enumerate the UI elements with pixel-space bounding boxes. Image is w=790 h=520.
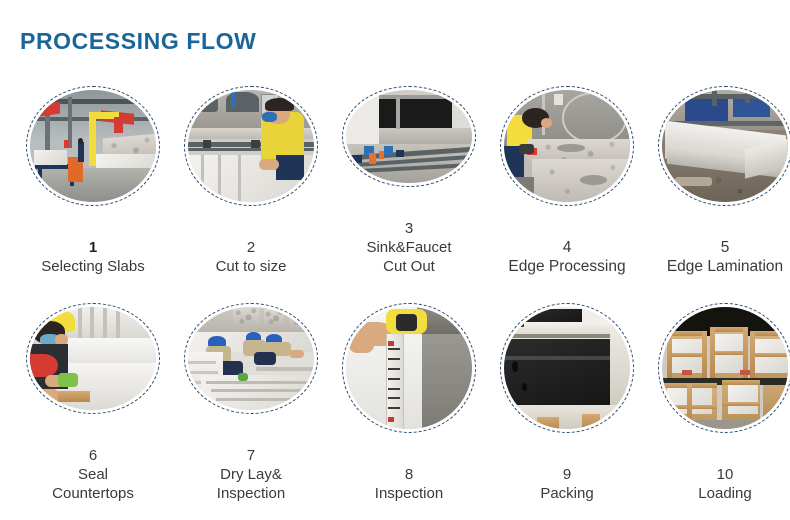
page-title: PROCESSING FLOW — [20, 28, 256, 55]
caption-step-9: 9 Packing — [540, 446, 593, 503]
step-label-3: Sink&Faucet Cut Out — [366, 239, 451, 275]
photo-packing — [500, 303, 634, 433]
flow-step-8[interactable]: 8 Inspection — [330, 303, 488, 503]
photo-cut-to-size — [184, 86, 318, 206]
step-number-1: 1 — [89, 239, 97, 256]
step-label-2: Cut to size — [216, 258, 287, 275]
flow-step-3[interactable]: 3 Sink&Faucet Cut Out — [330, 86, 488, 276]
step-label-6: Seal Countertops — [52, 466, 134, 502]
photo-seal-countertops — [26, 303, 160, 414]
step-label-8: Inspection — [375, 485, 443, 502]
step-number-6: 6 — [89, 447, 97, 464]
photo-edge-processing — [500, 86, 634, 206]
flow-step-9[interactable]: 9 Packing — [488, 303, 646, 503]
photo-sink-faucet-cutout — [342, 86, 476, 187]
flow-step-5[interactable]: 5 Edge Lamination — [646, 86, 790, 276]
flow-row-1: 1 Selecting Slabs — [0, 86, 790, 276]
step-label-10: Loading — [698, 485, 751, 502]
step-number-10: 10 — [717, 466, 734, 483]
photo-inspection — [342, 303, 476, 433]
flow-step-4[interactable]: 4 Edge Processing — [488, 86, 646, 276]
flow-step-6[interactable]: 6 Seal Countertops — [14, 303, 172, 503]
caption-step-7: 7 Dry Lay& Inspection — [217, 427, 285, 503]
step-label-4: Edge Processing — [508, 258, 625, 275]
flow-step-7[interactable]: 7 Dry Lay& Inspection — [172, 303, 330, 503]
step-label-1: Selecting Slabs — [41, 258, 144, 275]
caption-step-10: 10 Loading — [698, 446, 751, 503]
step-number-8: 8 — [405, 466, 413, 483]
photo-loading — [658, 303, 790, 433]
caption-step-8: 8 Inspection — [375, 446, 443, 503]
step-number-5: 5 — [721, 239, 730, 256]
flow-step-2[interactable]: 2 Cut to size — [172, 86, 330, 276]
photo-selecting-slabs — [26, 86, 160, 206]
flow-step-1[interactable]: 1 Selecting Slabs — [14, 86, 172, 276]
step-label-5: Edge Lamination — [667, 258, 783, 275]
flow-row-2: 6 Seal Countertops — [0, 303, 790, 503]
caption-step-6: 6 Seal Countertops — [52, 427, 134, 503]
caption-step-5: 5 Edge Lamination — [667, 219, 783, 276]
caption-step-2: 2 Cut to size — [216, 219, 287, 276]
caption-step-4: 4 Edge Processing — [508, 219, 625, 276]
step-number-3: 3 — [405, 220, 413, 237]
processing-flow-page: PROCESSING FLOW — [0, 0, 790, 520]
step-number-4: 4 — [563, 239, 572, 256]
photo-edge-lamination — [658, 86, 790, 206]
step-label-7: Dry Lay& Inspection — [217, 466, 285, 502]
flow-step-10[interactable]: 10 Loading — [646, 303, 790, 503]
step-number-7: 7 — [247, 447, 255, 464]
step-number-9: 9 — [563, 466, 571, 483]
step-label-9: Packing — [540, 485, 593, 502]
step-number-2: 2 — [247, 239, 255, 256]
caption-step-1: 1 Selecting Slabs — [41, 219, 144, 276]
caption-step-3: 3 Sink&Faucet Cut Out — [366, 200, 451, 276]
photo-dry-lay-inspection — [184, 303, 318, 414]
